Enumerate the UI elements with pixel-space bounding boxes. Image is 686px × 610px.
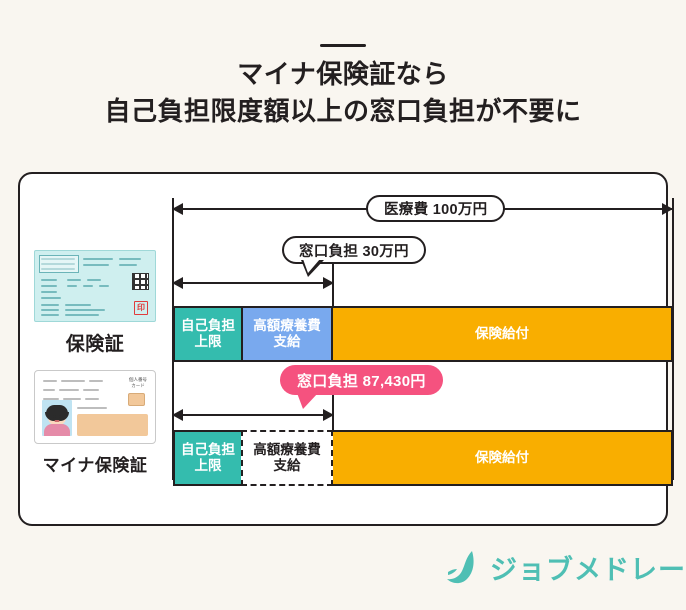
page-title: マイナ保険証なら 自己負担限度額以上の窓口負担が不要に bbox=[0, 56, 686, 130]
page-title-line1: マイナ保険証なら bbox=[0, 56, 686, 93]
my-number-card-icon: 個人番号カード bbox=[34, 370, 156, 444]
portrait-photo bbox=[42, 400, 72, 436]
segment-self-pay-cap-row1: 自己負担 上限 bbox=[173, 306, 243, 362]
my-number-card-note: 個人番号カード bbox=[129, 377, 147, 389]
brand-logo: ジョブメドレー bbox=[446, 548, 686, 587]
segment-insurance-benefit-row2: 保険給付 bbox=[331, 430, 673, 486]
chart: 医療費 100万円 窓口負担 30万円 自己負担 上限 高額療養費 支給 保険給… bbox=[170, 174, 666, 524]
counter-payment-label-row1: 窓口負担 30万円 bbox=[282, 236, 426, 264]
page-title-line2: 自己負担限度額以上の窓口負担が不要に bbox=[0, 93, 686, 130]
qr-code-icon bbox=[132, 273, 149, 290]
seal-icon: 印 bbox=[134, 301, 148, 315]
counter-payment-arrow-row1 bbox=[173, 282, 333, 284]
jobmedley-swoosh-icon bbox=[446, 550, 480, 586]
brand-name: ジョブメドレー bbox=[490, 548, 686, 587]
health-insurance-card-label: 保険証 bbox=[20, 329, 170, 356]
health-insurance-card-icon: 印 bbox=[34, 250, 156, 322]
ic-chip-icon bbox=[128, 393, 145, 406]
total-cost-label: 医療費 100万円 bbox=[366, 195, 505, 222]
segment-kogaku-ryoyohi-row1: 高額療養費 支給 bbox=[241, 306, 333, 362]
segment-self-pay-cap-row2: 自己負担 上限 bbox=[173, 430, 243, 486]
chart-panel: 印 保険証 個人番号カード bbox=[18, 172, 668, 526]
counter-payment-text-row1: 窓口負担 30万円 bbox=[299, 240, 409, 261]
card-column: 印 保険証 個人番号カード bbox=[20, 174, 170, 524]
segment-kogaku-ryoyohi-row2: 高額療養費 支給 bbox=[241, 430, 333, 486]
counter-payment-label-row2: 窓口負担 87,430円 bbox=[280, 365, 443, 395]
counter-payment-text-row2: 窓口負担 87,430円 bbox=[297, 370, 426, 391]
my-number-card-label: マイナ保険証 bbox=[20, 451, 170, 476]
title-divider bbox=[320, 44, 366, 47]
segment-insurance-benefit-row1: 保険給付 bbox=[331, 306, 673, 362]
my-number-card-item: 個人番号カード マイナ保険証 bbox=[20, 370, 170, 476]
bar-row-health-insurance: 自己負担 上限 高額療養費 支給 保険給付 bbox=[173, 306, 673, 362]
health-insurance-card-item: 印 保険証 bbox=[20, 250, 170, 356]
counter-payment-arrow-row2 bbox=[173, 414, 333, 416]
header: マイナ保険証なら 自己負担限度額以上の窓口負担が不要に bbox=[0, 0, 686, 150]
bar-row-my-number-card: 自己負担 上限 高額療養費 支給 保険給付 bbox=[173, 430, 673, 486]
